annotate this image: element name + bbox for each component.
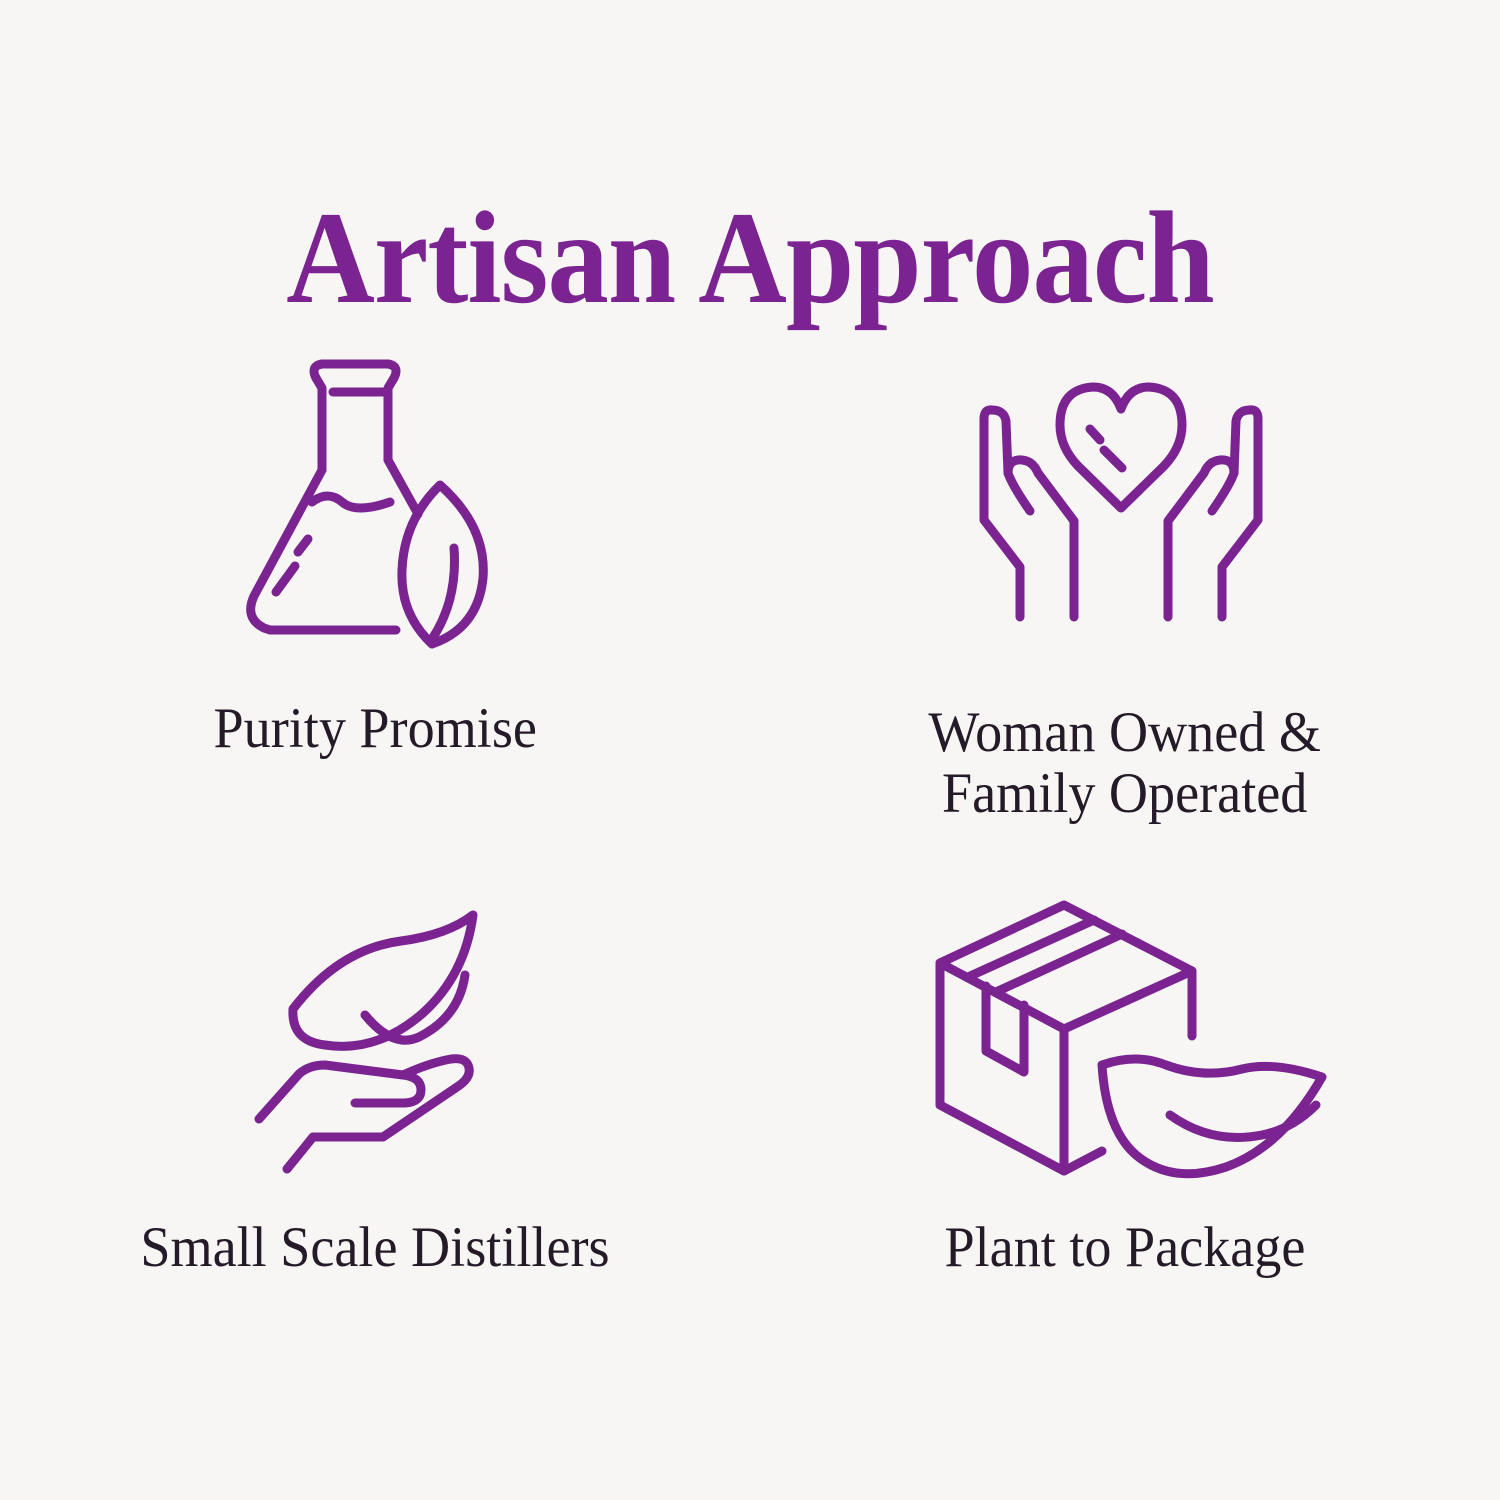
page-title: Artisan Approach xyxy=(53,192,1448,324)
artisan-approach-infographic: Artisan Approach xyxy=(0,0,1500,1500)
feature-item-woman-owned: Woman Owned & Family Operated xyxy=(750,360,1500,865)
feature-label-small-scale-distillers: Small Scale Distillers xyxy=(140,1217,609,1278)
feature-label-plant-to-package: Plant to Package xyxy=(945,1217,1306,1278)
flask-leaf-icon xyxy=(232,352,522,652)
feature-grid: Purity Promise xyxy=(0,360,1500,1370)
feature-item-plant-to-package: Plant to Package xyxy=(750,865,1500,1370)
feature-item-small-scale-distillers: Small Scale Distillers xyxy=(0,865,750,1370)
feature-label-purity-promise: Purity Promise xyxy=(213,698,536,759)
feature-label-woman-owned: Woman Owned & Family Operated xyxy=(929,702,1322,824)
feature-item-purity-promise: Purity Promise xyxy=(0,360,750,865)
hand-holding-leaf-icon xyxy=(251,887,511,1187)
package-box-leaf-icon xyxy=(926,885,1336,1185)
hands-holding-heart-icon xyxy=(956,358,1286,658)
